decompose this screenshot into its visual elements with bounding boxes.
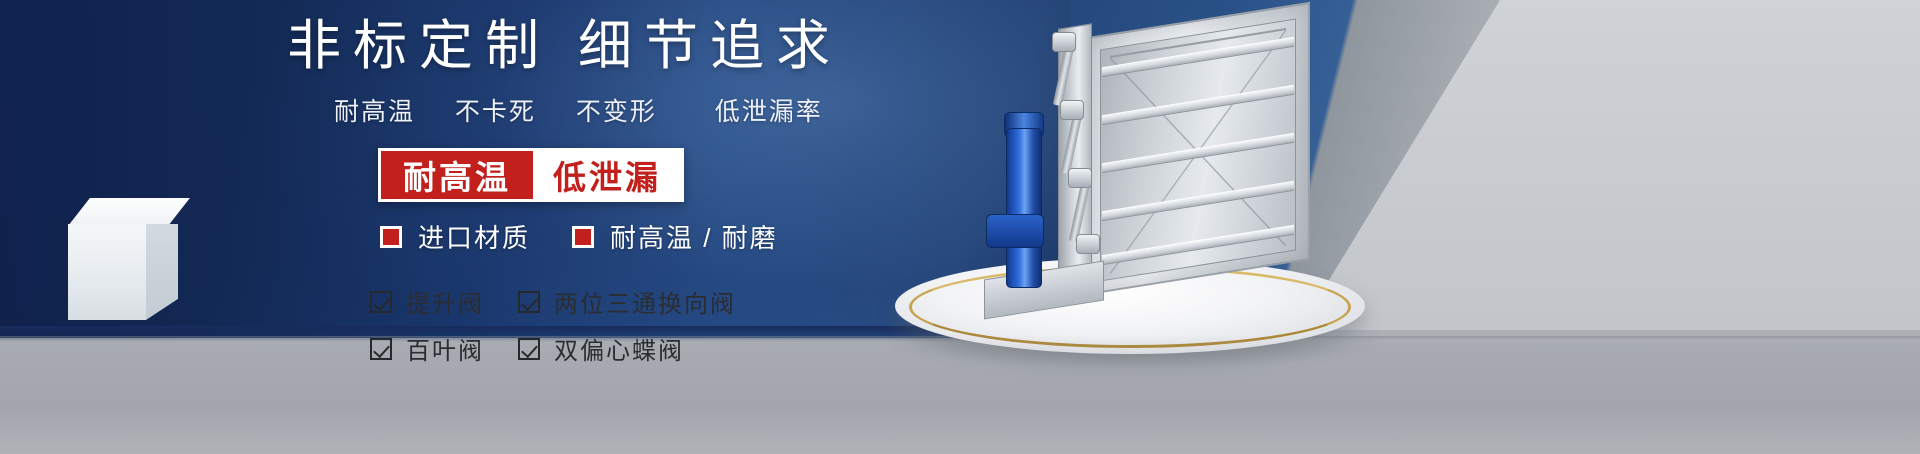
subtitle-part-1: 耐高温 <box>334 98 415 126</box>
list-item: 两位三通换向阀 <box>518 284 736 319</box>
linkage-knuckle <box>1052 32 1076 52</box>
pneumatic-actuator-cylinder <box>1006 128 1042 288</box>
list-item: 百叶阀 <box>370 331 484 366</box>
red-square-bullet-icon <box>380 226 402 248</box>
cube-top-face <box>68 198 190 226</box>
feature-label: 进口材质 <box>418 218 530 255</box>
badge-label-left: 耐高温 <box>378 148 533 202</box>
subtitle-part-4: 低泄漏率 <box>715 98 823 126</box>
valve-label: 两位三通换向阀 <box>554 284 736 319</box>
checkbox-checked-icon <box>518 291 540 313</box>
checkbox-checked-icon <box>518 338 540 360</box>
checkbox-checked-icon <box>370 291 392 313</box>
promo-banner: 非标定制 细节追求 耐高温 不卡死 不变形 低泄漏率 耐高温 低泄漏 进口材质 … <box>0 0 1920 454</box>
valve-label: 百叶阀 <box>406 331 484 366</box>
list-item: 双偏心蝶阀 <box>518 331 736 366</box>
red-square-bullet-icon <box>572 226 594 248</box>
actuator-valve-block <box>986 214 1044 248</box>
feature-list: 进口材质 耐高温 / 耐磨 <box>380 218 778 255</box>
floor-shadow <box>0 334 1920 454</box>
feature-label: 耐高温 / 耐磨 <box>610 218 778 255</box>
list-item: 提升阀 <box>370 284 484 319</box>
subtitle-part-3: 不变形 <box>576 98 657 126</box>
status-badge: 耐高温 低泄漏 <box>378 148 684 202</box>
checkbox-checked-icon <box>370 338 392 360</box>
linkage-knuckle <box>1068 168 1092 188</box>
cube-front-face <box>68 224 146 320</box>
cube-side-face <box>146 224 178 320</box>
industrial-damper-valve-icon <box>940 8 1360 308</box>
valve-label: 提升阀 <box>406 284 484 319</box>
linkage-knuckle <box>1076 234 1100 254</box>
page-title: 非标定制 细节追求 <box>287 18 887 75</box>
valve-label: 双偏心蝶阀 <box>554 331 684 366</box>
badge-label-right: 低泄漏 <box>533 148 684 202</box>
list-item: 进口材质 <box>380 218 530 255</box>
valve-type-list: 提升阀 两位三通换向阀 百叶阀 双偏心蝶阀 <box>370 284 736 366</box>
linkage-knuckle <box>1060 100 1084 120</box>
list-item: 耐高温 / 耐磨 <box>572 218 778 255</box>
subtitle: 耐高温 不卡死 不变形 低泄漏率 <box>334 92 894 128</box>
white-cube-icon <box>68 198 188 326</box>
subtitle-part-2: 不卡死 <box>455 98 536 126</box>
